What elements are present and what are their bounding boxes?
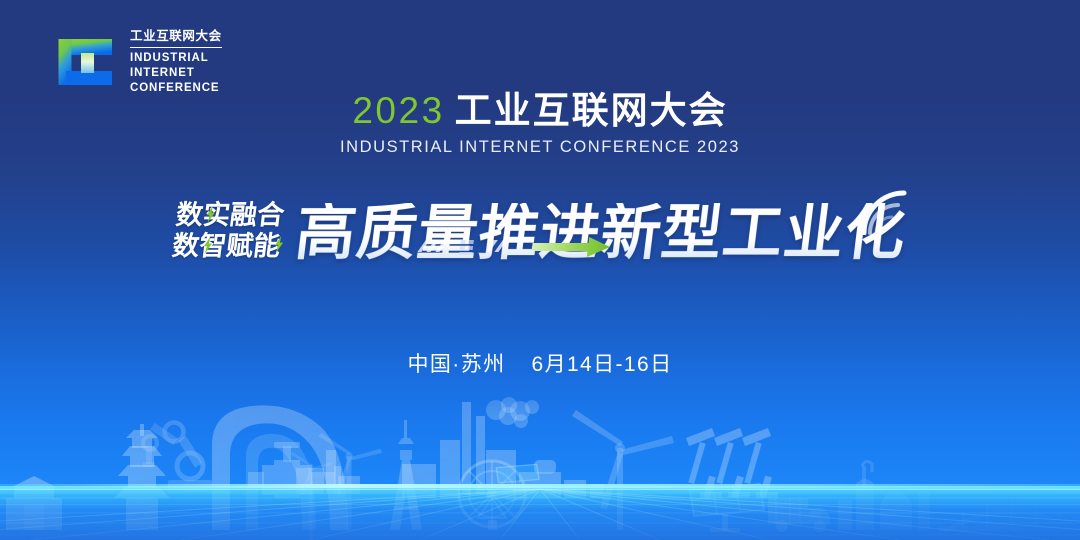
conference-title-block: 2023工业互联网大会 INDUSTRIAL INTERNET CONFEREN… xyxy=(0,92,1080,157)
arch-bridge-icon xyxy=(938,500,1080,534)
logo-text-block: 工业互联网大会 INDUSTRIAL INTERNET CONFERENCE xyxy=(130,28,222,95)
pagoda-icon xyxy=(114,424,170,530)
conference-subtitle-english: INDUSTRIAL INTERNET CONFERENCE 2023 xyxy=(0,138,1080,157)
slogan-secondary-block: 数实融合 数智赋能 xyxy=(170,201,286,264)
industrial-internet-conference-logo-icon xyxy=(57,31,119,93)
event-dates: 6月14日-16日 xyxy=(532,353,673,376)
event-location: 中国·苏州 xyxy=(408,353,506,376)
slogan-main-block: 高质量推进新型工业化 xyxy=(296,203,906,263)
gate-of-the-orient-icon xyxy=(212,405,348,530)
slogan-secondary-line-2: 数智赋能 xyxy=(171,233,282,261)
traditional-hall-icon xyxy=(6,476,62,530)
storage-tanks-icon xyxy=(838,461,930,530)
conference-title: 2023工业互联网大会 xyxy=(0,92,1080,129)
conference-title-chinese: 工业互联网大会 xyxy=(455,90,728,131)
perspective-grid-lines xyxy=(0,489,1080,540)
robotic-arm-icon xyxy=(143,423,212,493)
horizon-perspective-grid xyxy=(0,480,1080,540)
skyline-center-right-group xyxy=(6,405,1080,540)
industrial-city-skyline xyxy=(0,380,1080,540)
tv-tower-icon xyxy=(390,420,422,530)
solar-panels-icon xyxy=(496,464,764,532)
conference-poster: 工业互联网大会 INDUSTRIAL INTERNET CONFERENCE 2… xyxy=(0,0,1080,540)
smoke-cloud xyxy=(486,397,539,428)
slogan-row: 数实融合 数智赋能 高质量推进新型工业化 xyxy=(0,183,1080,283)
slogan-secondary-line-2-text: 数智赋能 xyxy=(171,232,283,262)
event-date-location: 中国·苏州6月14日-16日 xyxy=(0,348,1080,378)
logo-chinese-name: 工业互联网大会 xyxy=(130,29,222,48)
skyline-left-group xyxy=(143,397,778,499)
pipeline-valve-icon xyxy=(248,442,341,498)
conference-year: 2023 xyxy=(352,90,444,131)
slogan-secondary-line-1: 数实融合 xyxy=(174,201,285,229)
oil-pumpjack-icon xyxy=(686,428,778,499)
slogan-main-text: 高质量推进新型工业化 xyxy=(292,203,909,263)
conference-logo-lockup[interactable]: 工业互联网大会 INDUSTRIAL INTERNET CONFERENCE xyxy=(57,28,222,95)
wind-turbine-icon xyxy=(291,410,674,540)
logo-english-line-1: INDUSTRIAL xyxy=(130,51,222,66)
ferris-wheel-icon xyxy=(459,461,525,530)
perspective-grid-rows xyxy=(0,493,1080,535)
cargo-truck-icon xyxy=(768,498,830,532)
factory-smokestacks-icon xyxy=(462,397,539,494)
logo-english-line-2: INTERNET xyxy=(130,66,222,81)
slogan-secondary-line-1-text: 数实融合 xyxy=(174,200,286,230)
factory-building-icon xyxy=(296,440,604,498)
